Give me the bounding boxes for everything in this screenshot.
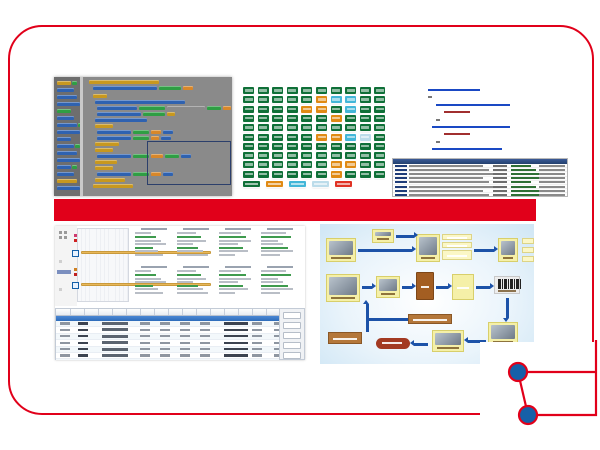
slide-canvas (0, 0, 600, 450)
decorative-dot (519, 406, 537, 424)
decorative-dot (509, 363, 527, 381)
decorative-tail (0, 0, 600, 450)
